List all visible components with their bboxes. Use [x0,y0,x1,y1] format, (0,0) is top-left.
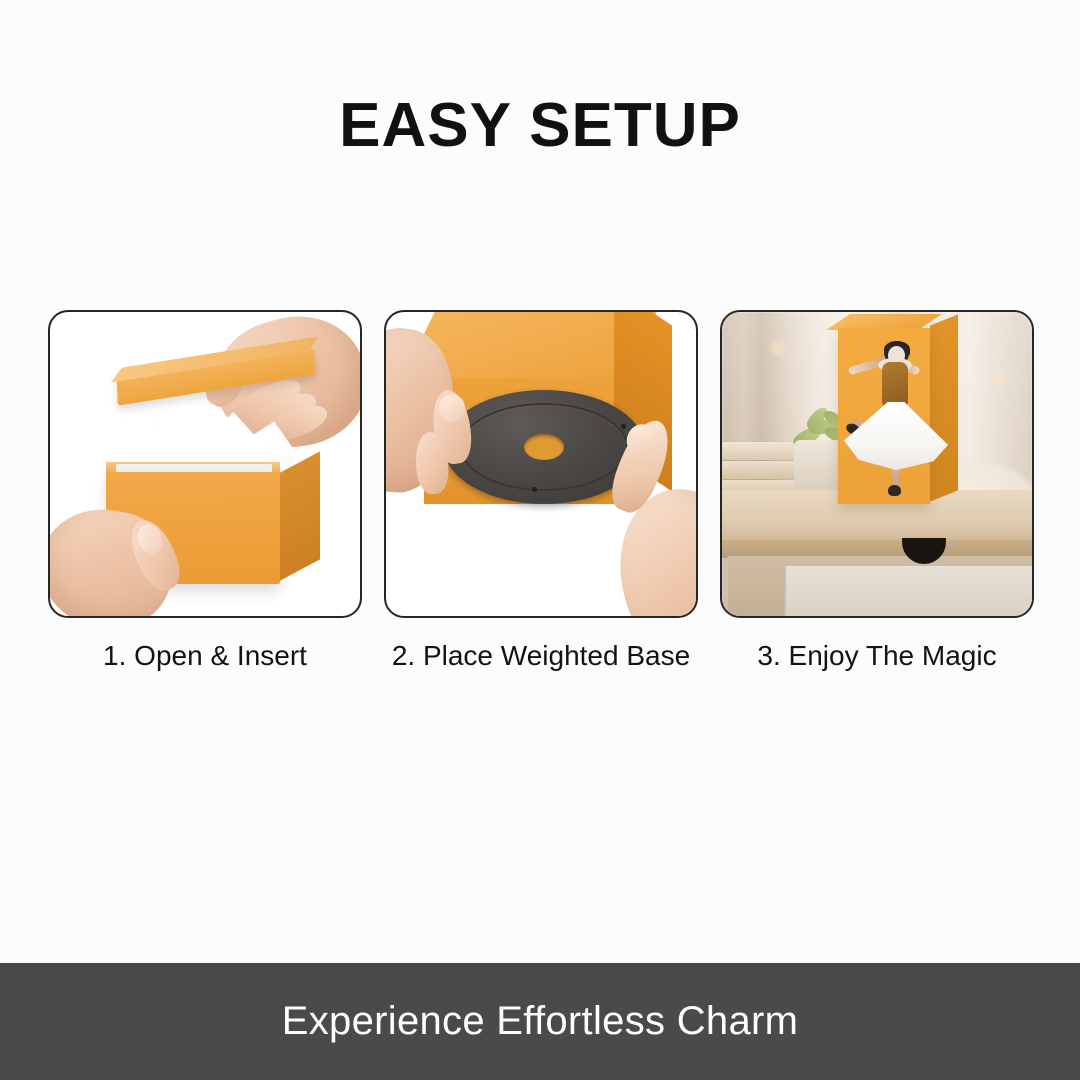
step-3-caption: 3. Enjoy The Magic [712,640,1042,672]
scene-open-and-insert [50,312,360,616]
step-1-caption: 1. Open & Insert [48,640,362,672]
base-screw-icon [621,424,626,429]
step-3-image-card [720,310,1034,618]
ballerina-bodice [882,362,908,406]
nightstand-drawer [784,564,1034,618]
step-2: 2. Place Weighted Base [384,310,698,620]
step-3: 3. Enjoy The Magic [720,310,1034,620]
step-2-image-card [384,310,698,618]
step-1: 1. Open & Insert [48,310,362,620]
fingernail-icon [439,394,465,422]
footer-tagline: Experience Effortless Charm [282,999,798,1044]
step-1-image-card [48,310,362,618]
steps-row: 1. Open & Insert [48,310,1034,620]
ballerina-graphic [838,328,930,504]
ballet-shoe-icon [888,485,901,496]
footer-bar: Experience Effortless Charm [0,963,1080,1080]
base-plate-center-hole [524,434,564,460]
page-title: EASY SETUP [0,95,1080,157]
scene-enjoy-the-magic [722,312,1032,616]
scene-place-weighted-base [386,312,696,616]
step-2-caption: 2. Place Weighted Base [376,640,706,672]
tissue-box-side [280,451,320,580]
base-screw-icon [532,487,537,492]
tall-box-side-face [930,314,958,501]
